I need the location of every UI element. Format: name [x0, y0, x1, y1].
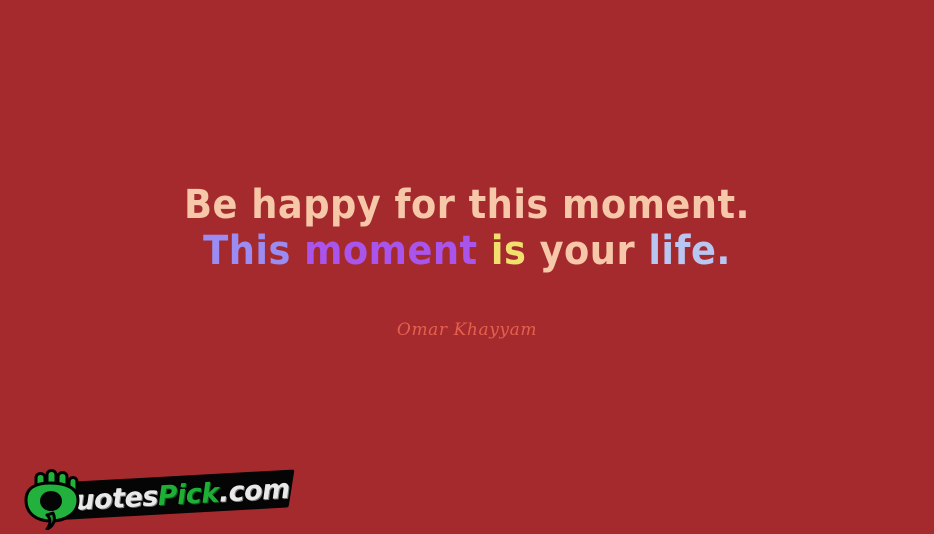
watermark-brand-com: .com	[218, 474, 291, 509]
watermark-logo[interactable]: QuotesPick.com	[6, 466, 306, 530]
watermark-brand-pick: Pick	[157, 478, 220, 512]
quote-segment-moment: moment	[304, 228, 491, 274]
quote-image-canvas: Be happy for this moment. This moment is…	[0, 0, 934, 534]
green-hand-quote-icon	[6, 466, 92, 530]
quote-line-1: Be happy for this moment.	[37, 182, 896, 228]
quote-segment-life: life.	[648, 228, 730, 274]
quote-text-block: Be happy for this moment. This moment is…	[0, 182, 934, 274]
quote-segment-is: is	[491, 228, 540, 274]
quote-author: Omar Khayyam	[0, 320, 934, 340]
quote-segment-your: your	[540, 228, 649, 274]
quote-segment-be-happy-for-this-moment: Be happy for this moment.	[184, 182, 750, 228]
quote-segment-this: This	[203, 228, 304, 274]
quote-line-2: This moment is your life.	[37, 228, 896, 274]
